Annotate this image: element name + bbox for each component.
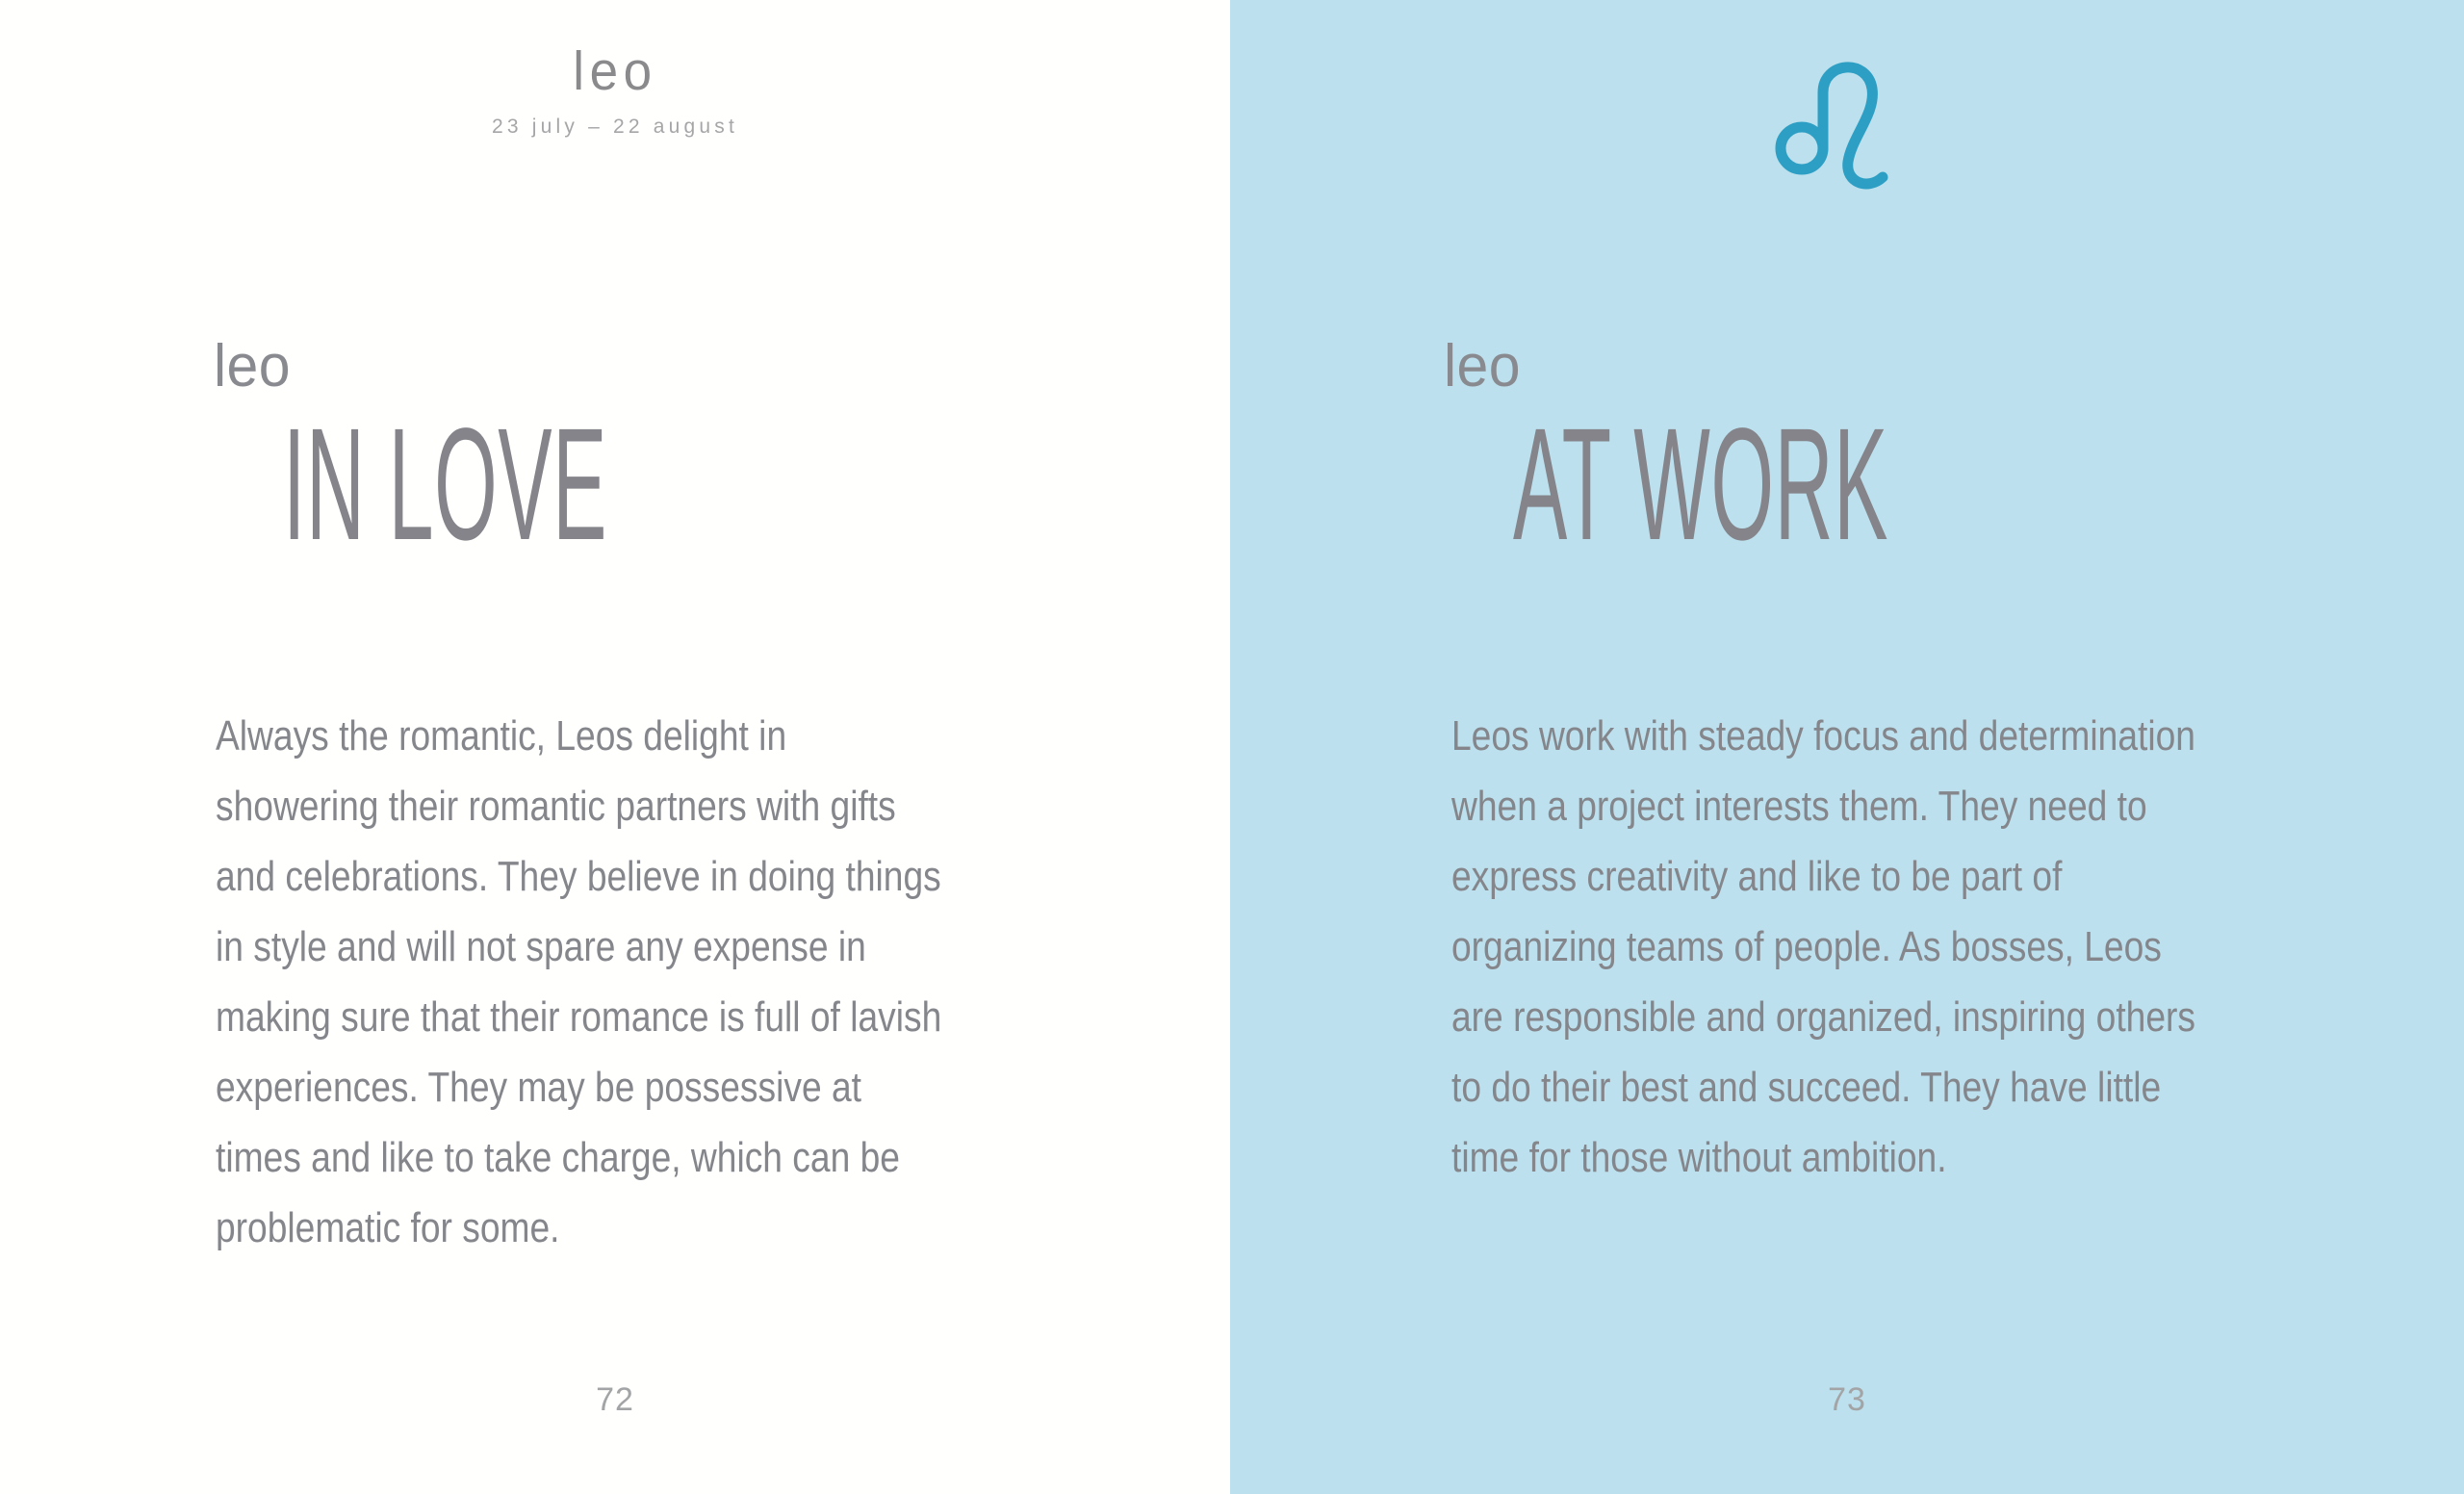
left-body-paragraph: Always the romantic, Leos delight in sho… [216, 701, 948, 1263]
running-head: leo 23 july – 22 august [0, 44, 1230, 137]
right-body-paragraph: Leos work with steady focus and determin… [1451, 701, 2208, 1193]
book-spread: leo 23 july – 22 august leo IN LOVE Alwa… [0, 0, 2464, 1494]
running-head-sign: leo [43, 44, 1188, 99]
left-heading-sign-label: leo [214, 339, 777, 396]
left-heading-title: IN LOVE [283, 411, 607, 558]
right-heading-block: leo AT WORK [1444, 339, 2118, 531]
left-heading-block: leo IN LOVE [214, 339, 807, 531]
right-page: leo AT WORK Leos work with steady focus … [1230, 0, 2464, 1494]
left-page-number: 72 [0, 1381, 1230, 1419]
right-heading-sign-label: leo [1444, 339, 2085, 396]
leo-zodiac-glyph-icon [1230, 35, 2464, 198]
right-page-number: 73 [1230, 1381, 2464, 1419]
running-head-dates: 23 july – 22 august [0, 116, 1230, 137]
right-heading-title: AT WORK [1513, 411, 1888, 558]
left-page: leo 23 july – 22 august leo IN LOVE Alwa… [0, 0, 1230, 1494]
